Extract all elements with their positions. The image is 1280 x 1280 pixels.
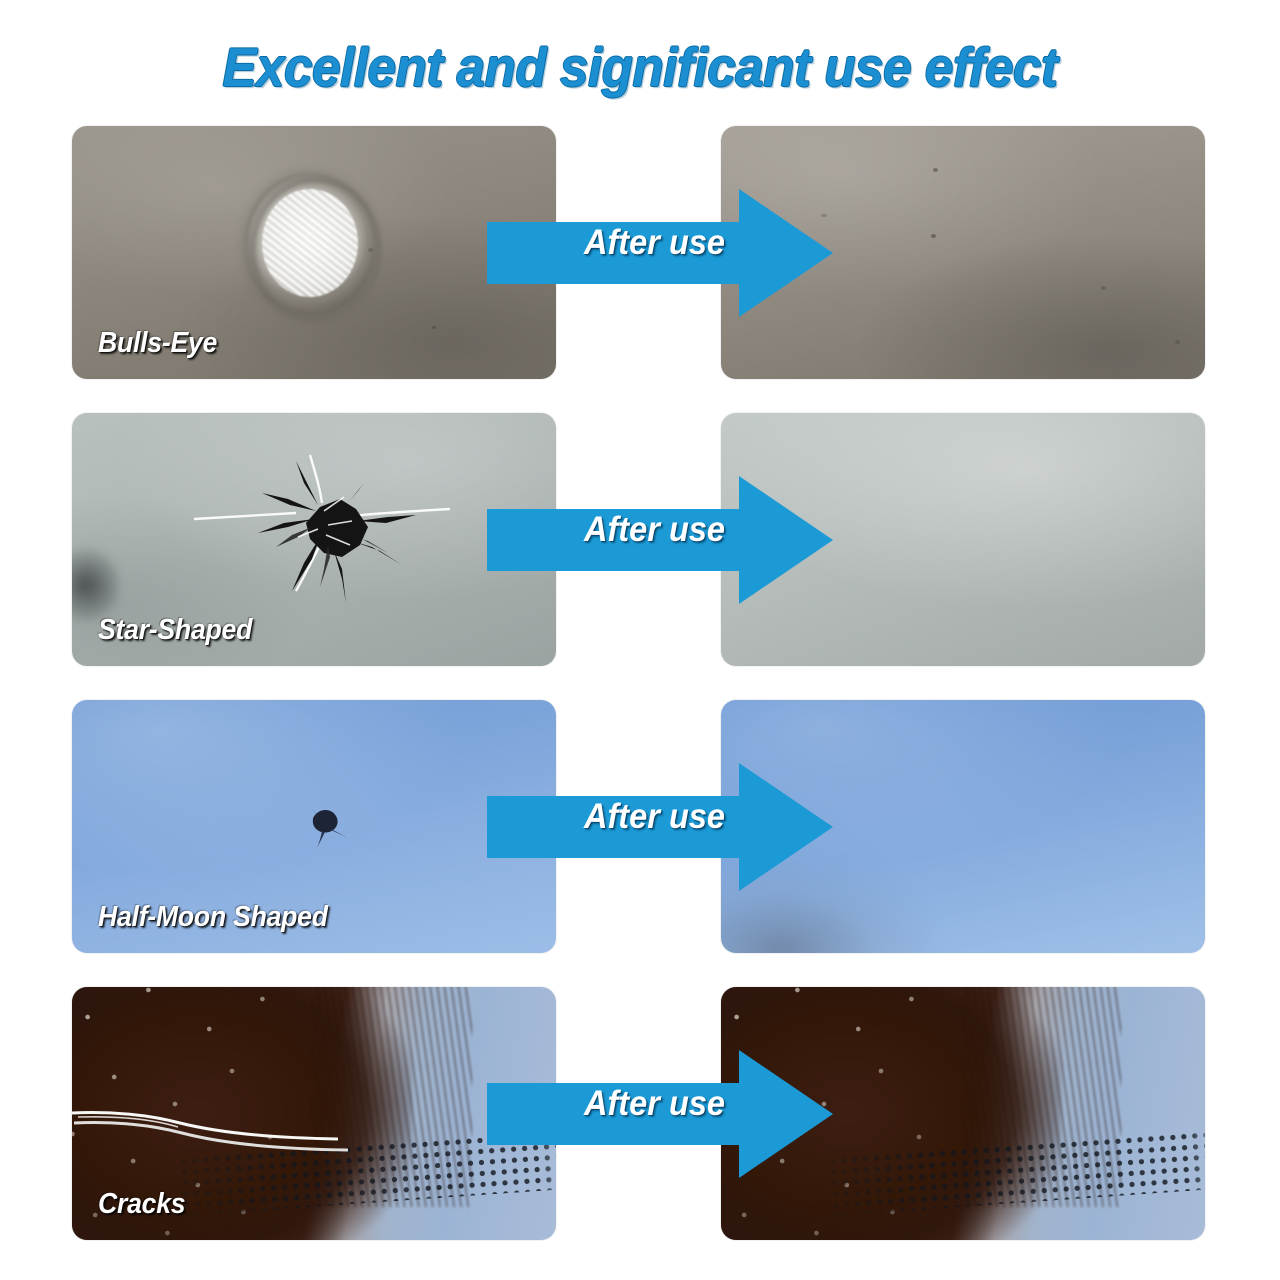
surface-speck [1175,340,1180,344]
arrow-label-star-shaped: After use [536,510,773,550]
damage-label-cracks: Cracks [98,1188,185,1220]
arrow-label-half-moon: After use [536,797,773,837]
after-image-star-shaped [721,413,1205,666]
before-image-star-shaped: Star-Shaped [72,413,556,666]
page-title: Excellent and significant use effect [45,34,1235,100]
star-crack-icon [192,441,452,631]
before-image-half-moon: Half-Moon Shaped [72,700,556,953]
after-image-bulls-eye [721,126,1205,379]
sky-haze [721,863,931,953]
glass-surface-green-grey-clean [721,413,1205,666]
after-image-half-moon [721,700,1205,953]
damage-label-half-moon: Half-Moon Shaped [98,901,328,933]
before-image-bulls-eye: Bulls-Eye [72,126,556,379]
comparison-row-cracks: Cracks After use [0,987,1280,1240]
surface-speck [1101,286,1106,290]
arrow-label-bulls-eye: After use [536,223,773,263]
damage-label-star-shaped: Star-Shaped [98,614,252,646]
surface-speck [933,168,938,172]
comparison-row-bulls-eye: Bulls-Eye After use [0,126,1280,379]
surface-speck [432,326,436,329]
after-image-cracks [721,987,1205,1240]
crack-line-icon [72,1097,402,1157]
bulls-eye-chip-icon [245,173,375,315]
infographic-page: Excellent and significant use effect Bul… [0,0,1280,1280]
surface-speck [821,214,827,217]
before-image-cracks: Cracks [72,987,556,1240]
surface-speck [931,234,936,238]
half-moon-chip-icon [298,800,354,856]
glass-surface-tan-clean [721,126,1205,379]
comparison-row-star-shaped: Star-Shaped After use [0,413,1280,666]
arrow-label-cracks: After use [536,1084,773,1124]
damage-label-bulls-eye: Bulls-Eye [98,327,217,359]
comparison-row-half-moon: Half-Moon Shaped After use [0,700,1280,953]
